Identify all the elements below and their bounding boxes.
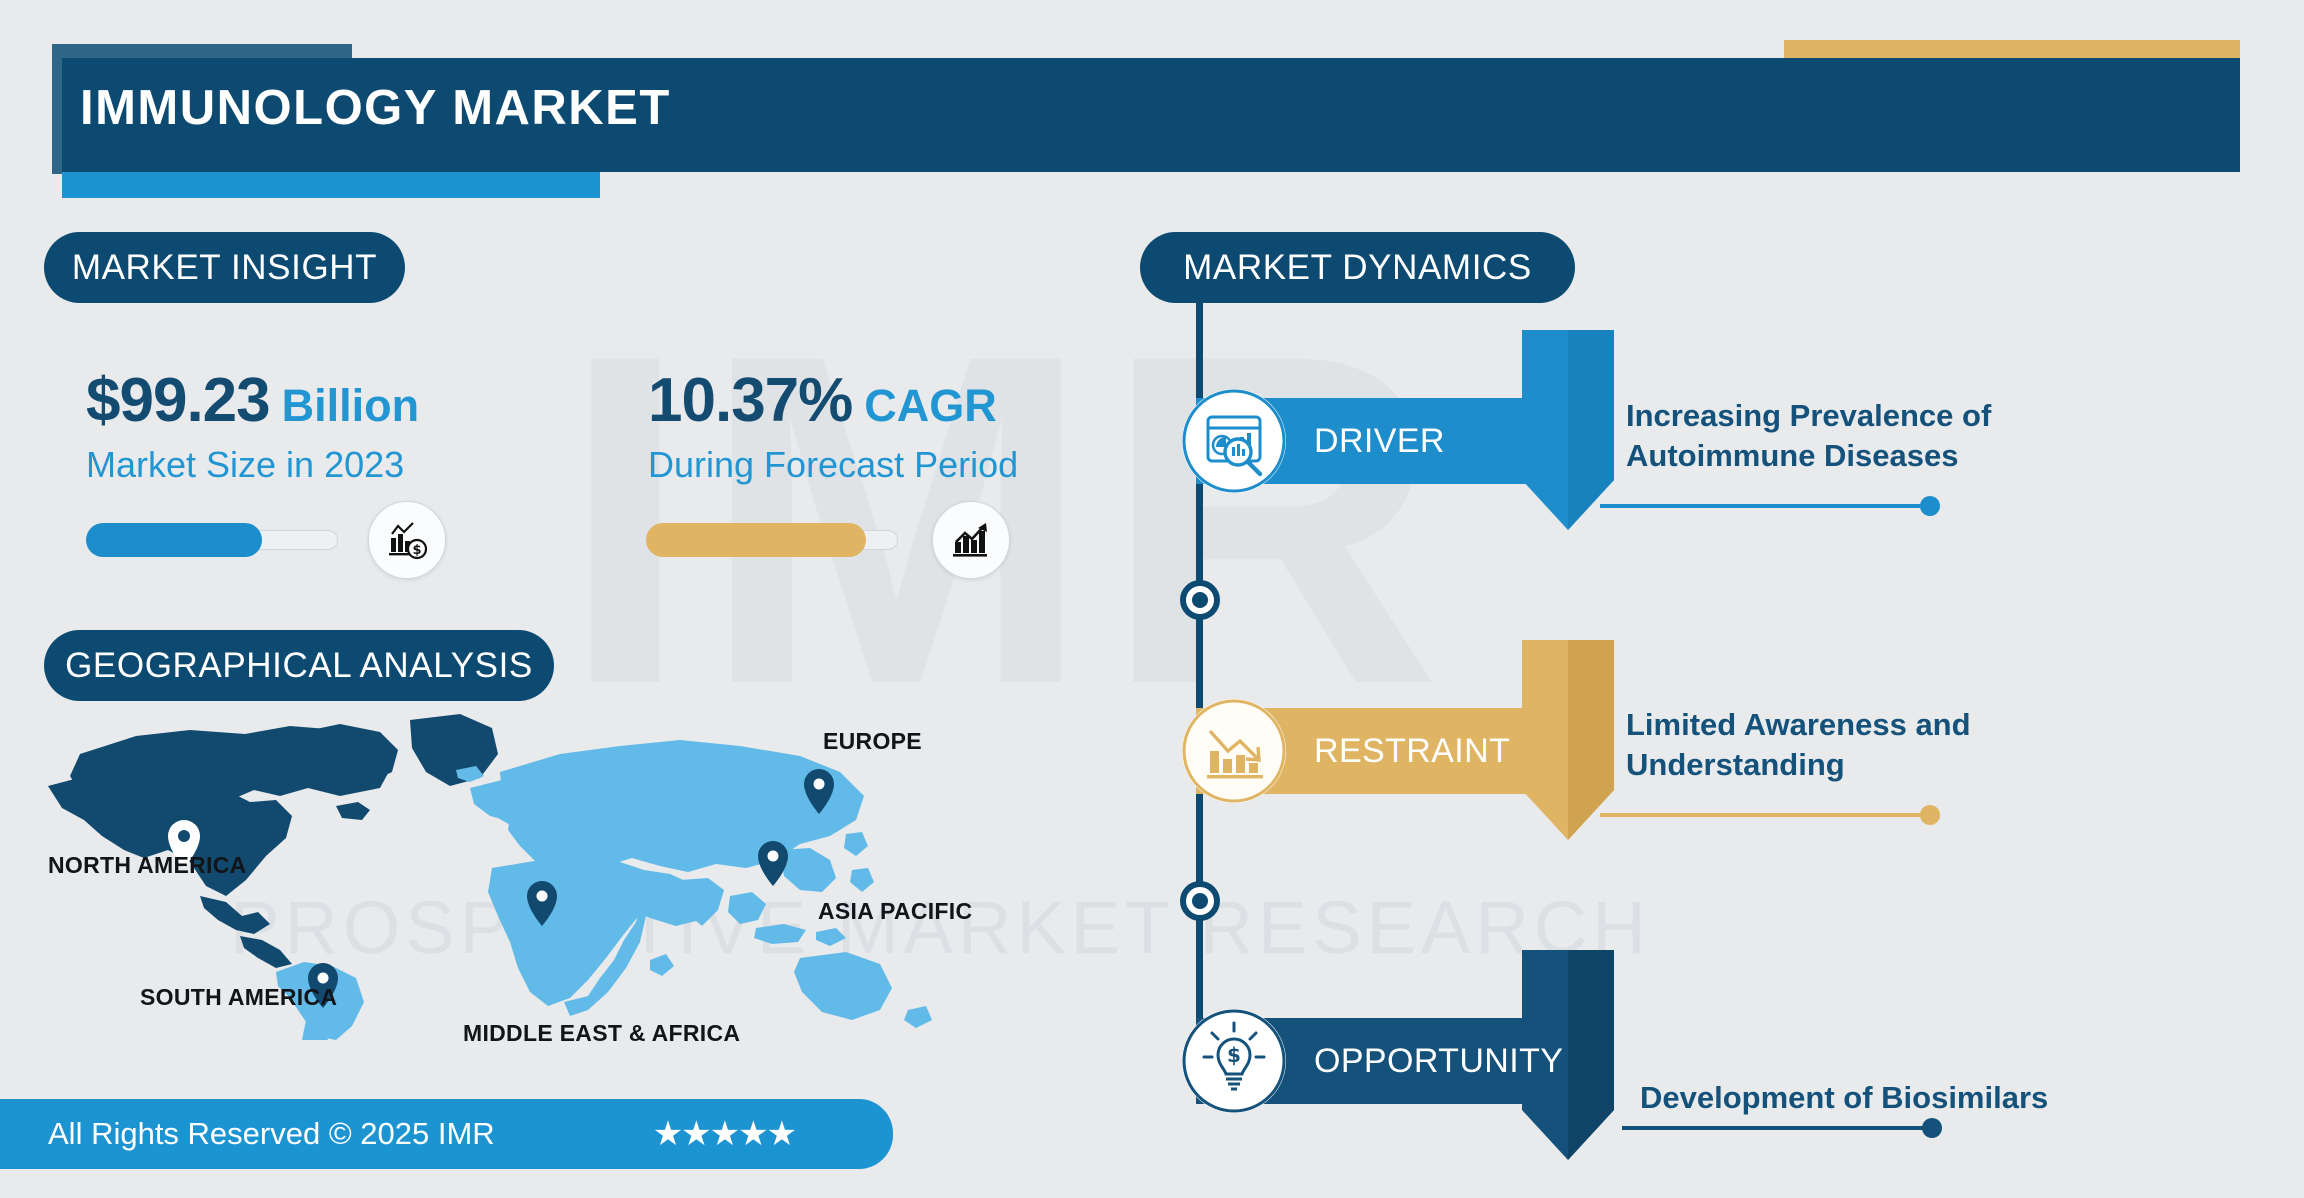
page-title: IMMUNOLOGY MARKET	[80, 80, 671, 136]
stat-market-size-unit: Billion	[282, 380, 419, 432]
section-pill-market-dynamics: MARKET DYNAMICS	[1140, 232, 1575, 303]
map-label-south-america: SOUTH AMERICA	[140, 984, 337, 1011]
footer-star-rating: ★★★★★	[653, 1114, 795, 1154]
restraint-description-line2: Understanding	[1626, 745, 1971, 785]
stat-cagr-value: 10.37%	[648, 365, 852, 436]
driver-description-line2: Autoimmune Diseases	[1626, 436, 1991, 476]
footer-bar: All Rights Reserved © 2025 IMR ★★★★★	[0, 1099, 893, 1169]
map-label-middle-east-africa: MIDDLE EAST & AFRICA	[463, 1020, 740, 1047]
dynamics-row-restraint[interactable]: RESTRAINT	[1196, 708, 1526, 794]
dynamics-description-opportunity: Development of Biosimilars	[1640, 1078, 2048, 1118]
infographic-canvas: IMR PROSPECTIVE MARKET RESEARCH IMMUNOLO…	[0, 0, 2304, 1198]
header-underline-accent	[62, 172, 600, 198]
section-pill-geographical-analysis: GEOGRAPHICAL ANALYSIS	[44, 630, 554, 701]
dynamics-label-restraint: RESTRAINT	[1314, 732, 1510, 771]
progress-fill-cagr	[646, 523, 866, 557]
growth-chart-icon	[932, 501, 1010, 579]
map-pin-asia-pacific	[758, 841, 788, 886]
stat-cagr-unit: CAGR	[864, 380, 997, 432]
driver-arrow	[1522, 330, 1614, 575]
stat-market-size: $99.23Billion Market Size in 2023	[86, 365, 419, 486]
restraint-arrow	[1522, 640, 1614, 885]
dynamics-description-restraint: Limited Awareness and Understanding	[1626, 705, 1971, 784]
svg-text:$: $	[412, 543, 421, 558]
opportunity-rule	[1622, 1126, 1932, 1130]
driver-rule-dot	[1920, 496, 1940, 516]
timeline-node-1	[1180, 580, 1220, 620]
map-label-north-america: NORTH AMERICA	[48, 852, 247, 879]
opportunity-description-line1: Development of Biosimilars	[1640, 1078, 2048, 1118]
bar-chart-dollar-icon: $	[368, 501, 446, 579]
restraint-rule-dot	[1920, 805, 1940, 825]
analytics-search-icon	[1182, 389, 1286, 493]
dynamics-row-opportunity[interactable]: OPPORTUNITY $	[1196, 1018, 1526, 1104]
timeline-node-2	[1180, 881, 1220, 921]
restraint-description-line1: Limited Awareness and	[1626, 705, 1971, 745]
svg-text:$: $	[1227, 1043, 1241, 1067]
lightbulb-dollar-icon: $	[1182, 1009, 1286, 1113]
declining-chart-icon	[1182, 699, 1286, 803]
dynamics-label-driver: DRIVER	[1314, 422, 1445, 461]
driver-rule	[1600, 504, 1930, 508]
restraint-rule	[1600, 813, 1930, 817]
dynamics-description-driver: Increasing Prevalence of Autoimmune Dise…	[1626, 396, 1991, 475]
stat-market-size-value: $99.23	[86, 365, 270, 436]
stat-cagr: 10.37%CAGR During Forecast Period	[648, 365, 1018, 486]
dynamics-label-opportunity: OPPORTUNITY	[1314, 1042, 1563, 1081]
dynamics-row-driver[interactable]: DRIVER	[1196, 398, 1526, 484]
driver-description-line1: Increasing Prevalence of	[1626, 396, 1991, 436]
map-label-europe: EUROPE	[823, 728, 922, 755]
section-pill-market-insight: MARKET INSIGHT	[44, 232, 405, 303]
progress-fill-market-size	[86, 523, 262, 557]
stat-cagr-caption: During Forecast Period	[648, 444, 1018, 486]
footer-copyright: All Rights Reserved © 2025 IMR	[48, 1116, 495, 1152]
opportunity-rule-dot	[1922, 1118, 1942, 1138]
stat-market-size-caption: Market Size in 2023	[86, 444, 419, 486]
map-label-asia-pacific: ASIA PACIFIC	[818, 898, 972, 925]
